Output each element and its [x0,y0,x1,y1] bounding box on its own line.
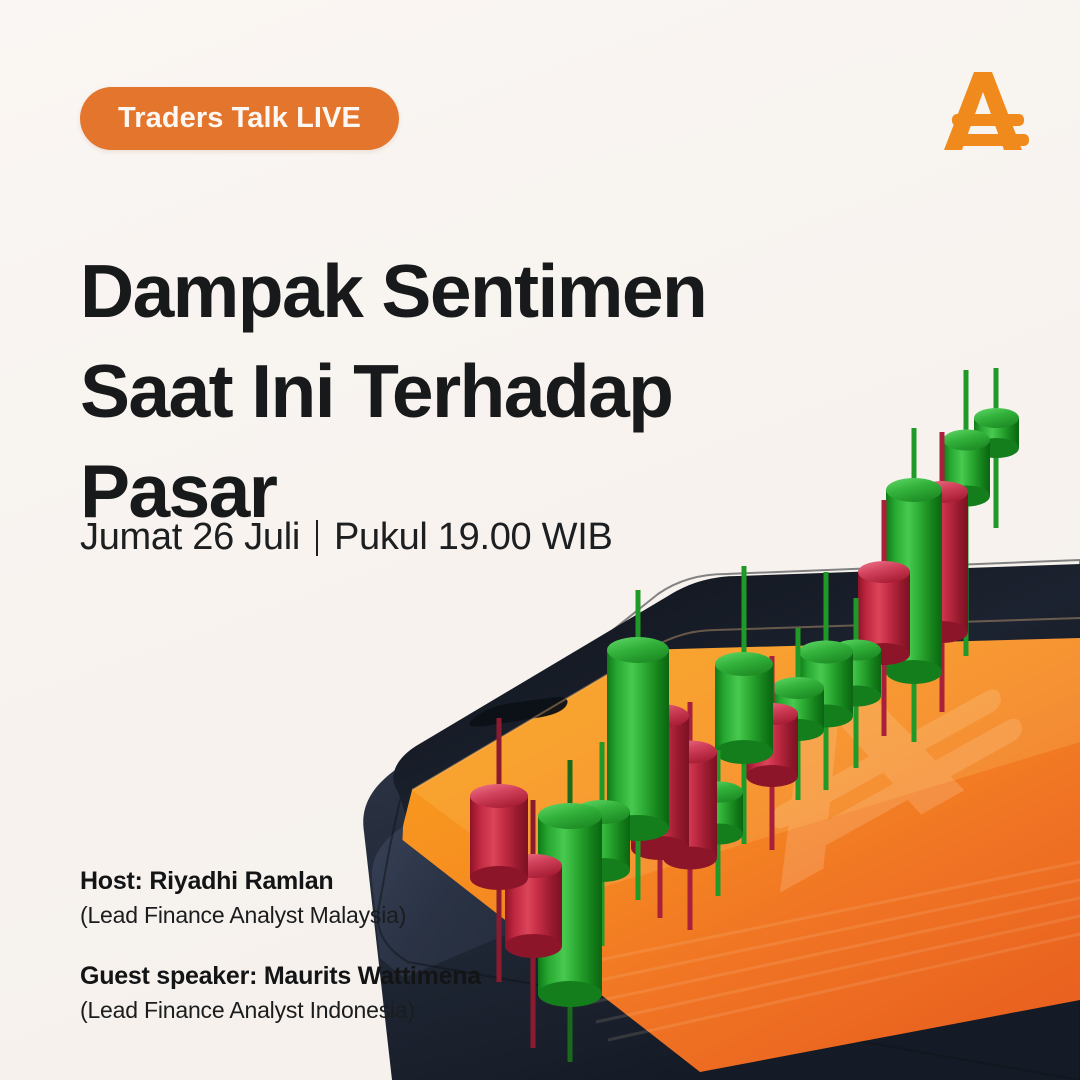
speakers-block: Host: Riyadhi Ramlan (Lead Finance Analy… [80,866,481,1026]
host-name: Host: Riyadhi Ramlan [80,866,481,897]
live-badge[interactable]: Traders Talk LIVE [80,87,399,150]
headline-line-2: Saat Ini Terhadap [80,342,840,442]
screen-watermark-logo [734,595,1029,892]
headline-line-1: Dampak Sentimen [80,242,840,342]
candle-16-down [916,432,968,712]
candle-17-up [943,370,990,656]
host-role: (Lead Finance Analyst Malaysia) [80,901,481,931]
schedule-date: Jumat 26 Juli [80,516,300,559]
poster-canvas: Traders Talk LIVE Dampak Sentimen Saat I… [0,0,1080,1080]
schedule-time: Pukul 19.00 WIB [334,516,613,559]
brand-logo-a-icon [930,58,1040,168]
candle-07-down [663,702,717,930]
schedule-separator [316,520,318,556]
candle-13-up [832,598,881,768]
candle-08-up [694,750,743,896]
candle-15-up [886,428,942,742]
phone-ground-shadow [430,944,1080,1076]
candle-05-up [607,590,669,900]
live-badge-label: Traders Talk LIVE [118,104,361,133]
candle-04-up [574,742,630,946]
candle-03-up [538,760,602,1062]
host-block: Host: Riyadhi Ramlan (Lead Finance Analy… [80,866,481,931]
candle-02-down [505,800,562,1048]
candle-11-up [772,628,824,800]
schedule-line: Jumat 26 Juli Pukul 19.00 WIB [80,516,613,559]
candle-12-up [799,572,853,790]
candle-09-up [715,566,773,844]
candle-18-up [974,368,1019,528]
candle-14-down [858,500,910,736]
guest-speaker-role: (Lead Finance Analyst Indonesia) [80,996,481,1026]
page-title: Dampak Sentimen Saat Ini Terhadap Pasar [80,242,840,541]
guest-speaker-name: Guest speaker: Maurits Wattimena [80,961,481,992]
candle-06-down [631,660,689,918]
candle-10-down [746,656,798,850]
guest-speaker-block: Guest speaker: Maurits Wattimena (Lead F… [80,961,481,1026]
